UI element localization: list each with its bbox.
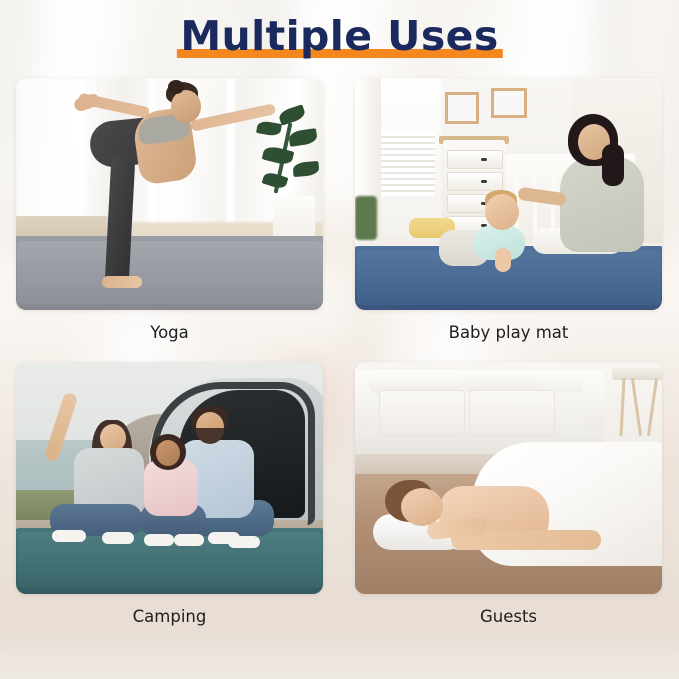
use-case-yoga[interactable]: Yoga <box>0 78 339 362</box>
product-infographic: Multiple Uses <box>0 0 679 679</box>
photo-guests <box>355 362 662 594</box>
photo-yoga <box>16 78 323 310</box>
page-title: Multiple Uses <box>180 8 498 64</box>
use-case-row-bottom: Camping <box>0 362 679 646</box>
yoga-mat <box>16 236 323 310</box>
photo-baby-play-mat <box>355 78 662 310</box>
use-case-guests[interactable]: Guests <box>339 362 678 646</box>
caption-baby-play-mat: Baby play mat <box>449 322 569 344</box>
use-case-baby-play-mat[interactable]: Baby play mat <box>339 78 678 362</box>
use-case-row-top: Yoga <box>0 78 679 362</box>
photo-camping <box>16 362 323 594</box>
caption-yoga: Yoga <box>150 322 189 344</box>
use-case-camping[interactable]: Camping <box>0 362 339 646</box>
header: Multiple Uses <box>0 8 679 72</box>
caption-camping: Camping <box>133 606 207 628</box>
use-case-grid: Yoga <box>0 78 679 646</box>
caption-guests: Guests <box>480 606 537 628</box>
